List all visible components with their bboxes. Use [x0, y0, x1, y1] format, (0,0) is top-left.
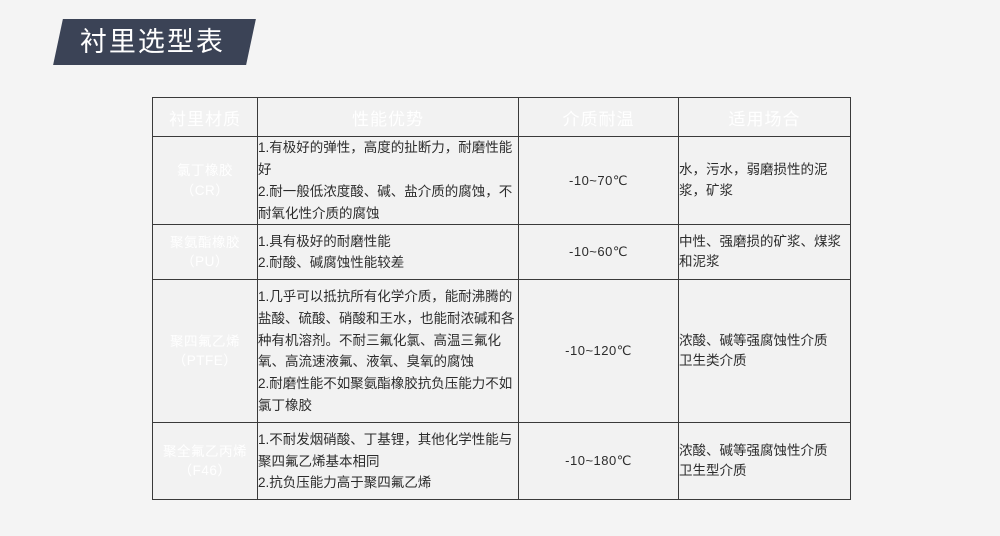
cell-material: 聚全氟乙丙烯 （F46）	[153, 423, 258, 500]
table-header-row: 衬里材质 性能优势 介质耐温 适用场合	[153, 98, 851, 137]
page-title-banner: 衬里选型表	[53, 19, 256, 65]
column-header-temperature: 介质耐温	[519, 98, 679, 137]
column-header-material: 衬里材质	[153, 98, 258, 137]
table-header: 衬里材质 性能优势 介质耐温 适用场合	[153, 98, 851, 137]
material-name: 聚四氟乙烯	[153, 332, 257, 352]
material-name: 聚氨酯橡胶	[153, 233, 257, 253]
cell-performance: 1.有极好的弹性，高度的扯断力，耐磨性能好 2.耐一般低浓度酸、碱、盐介质的腐蚀…	[258, 137, 519, 225]
material-abbreviation: （F46）	[153, 461, 257, 481]
cell-temperature: -10~180℃	[519, 423, 679, 500]
cell-usage: 浓酸、碱等强腐蚀性介质 卫生型介质	[679, 423, 851, 500]
column-header-performance: 性能优势	[258, 98, 519, 137]
page-title: 衬里选型表	[80, 29, 225, 56]
cell-material: 聚四氟乙烯 （PTFE）	[153, 280, 258, 423]
material-name: 氯丁橡胶	[153, 161, 257, 181]
cell-temperature: -10~60℃	[519, 225, 679, 280]
cell-performance: 1.几乎可以抵抗所有化学介质，能耐沸腾的盐酸、硫酸、硝酸和王水，也能耐浓碱和各种…	[258, 280, 519, 423]
material-name: 聚全氟乙丙烯	[153, 442, 257, 462]
lining-selection-table-container: 衬里材质 性能优势 介质耐温 适用场合 氯丁橡胶 （CR） 1.有极好的弹性，高…	[152, 97, 850, 500]
material-abbreviation: （PU）	[153, 252, 257, 272]
cell-material: 聚氨酯橡胶 （PU）	[153, 225, 258, 280]
cell-usage: 水，污水，弱磨损性的泥浆，矿浆	[679, 137, 851, 225]
table-row: 聚氨酯橡胶 （PU） 1.具有极好的耐磨性能 2.耐酸、碱腐蚀性能较差 -10~…	[153, 225, 851, 280]
table-row: 氯丁橡胶 （CR） 1.有极好的弹性，高度的扯断力，耐磨性能好 2.耐一般低浓度…	[153, 137, 851, 225]
cell-temperature: -10~120℃	[519, 280, 679, 423]
material-abbreviation: （CR）	[153, 181, 257, 201]
cell-temperature: -10~70℃	[519, 137, 679, 225]
material-abbreviation: （PTFE）	[153, 351, 257, 371]
cell-performance: 1.具有极好的耐磨性能 2.耐酸、碱腐蚀性能较差	[258, 225, 519, 280]
lining-selection-table: 衬里材质 性能优势 介质耐温 适用场合 氯丁橡胶 （CR） 1.有极好的弹性，高…	[152, 97, 851, 500]
table-body: 氯丁橡胶 （CR） 1.有极好的弹性，高度的扯断力，耐磨性能好 2.耐一般低浓度…	[153, 137, 851, 500]
cell-material: 氯丁橡胶 （CR）	[153, 137, 258, 225]
table-row: 聚四氟乙烯 （PTFE） 1.几乎可以抵抗所有化学介质，能耐沸腾的盐酸、硫酸、硝…	[153, 280, 851, 423]
cell-usage: 浓酸、碱等强腐蚀性介质 卫生类介质	[679, 280, 851, 423]
cell-usage: 中性、强磨损的矿浆、煤浆和泥浆	[679, 225, 851, 280]
column-header-usage: 适用场合	[679, 98, 851, 137]
table-row: 聚全氟乙丙烯 （F46） 1.不耐发烟硝酸、丁基锂，其他化学性能与聚四氟乙烯基本…	[153, 423, 851, 500]
cell-performance: 1.不耐发烟硝酸、丁基锂，其他化学性能与聚四氟乙烯基本相同 2.抗负压能力高于聚…	[258, 423, 519, 500]
